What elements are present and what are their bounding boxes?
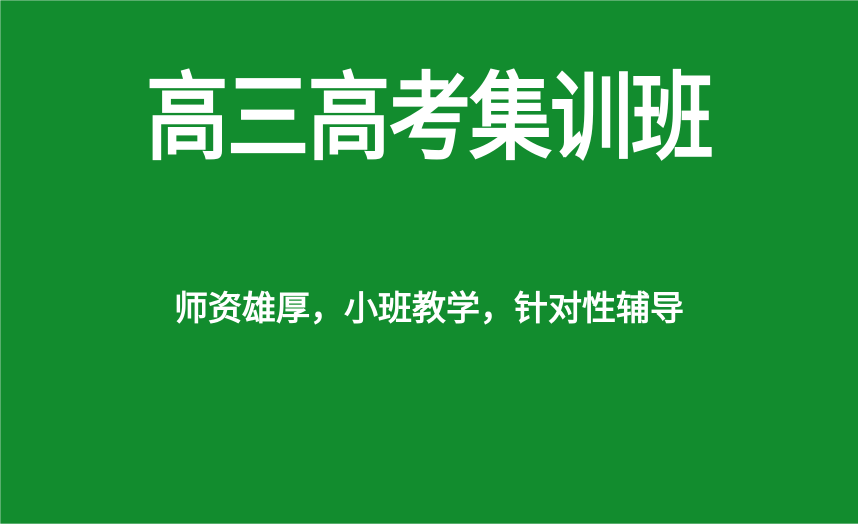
banner-subtitle: 师资雄厚，小班教学，针对性辅导 [0,288,858,330]
top-edge-line [0,0,858,1]
promo-banner: 高三高考集训班 师资雄厚，小班教学，针对性辅导 [0,0,858,524]
left-edge-line [0,0,1,524]
banner-headline: 高三高考集训班 [60,64,798,172]
